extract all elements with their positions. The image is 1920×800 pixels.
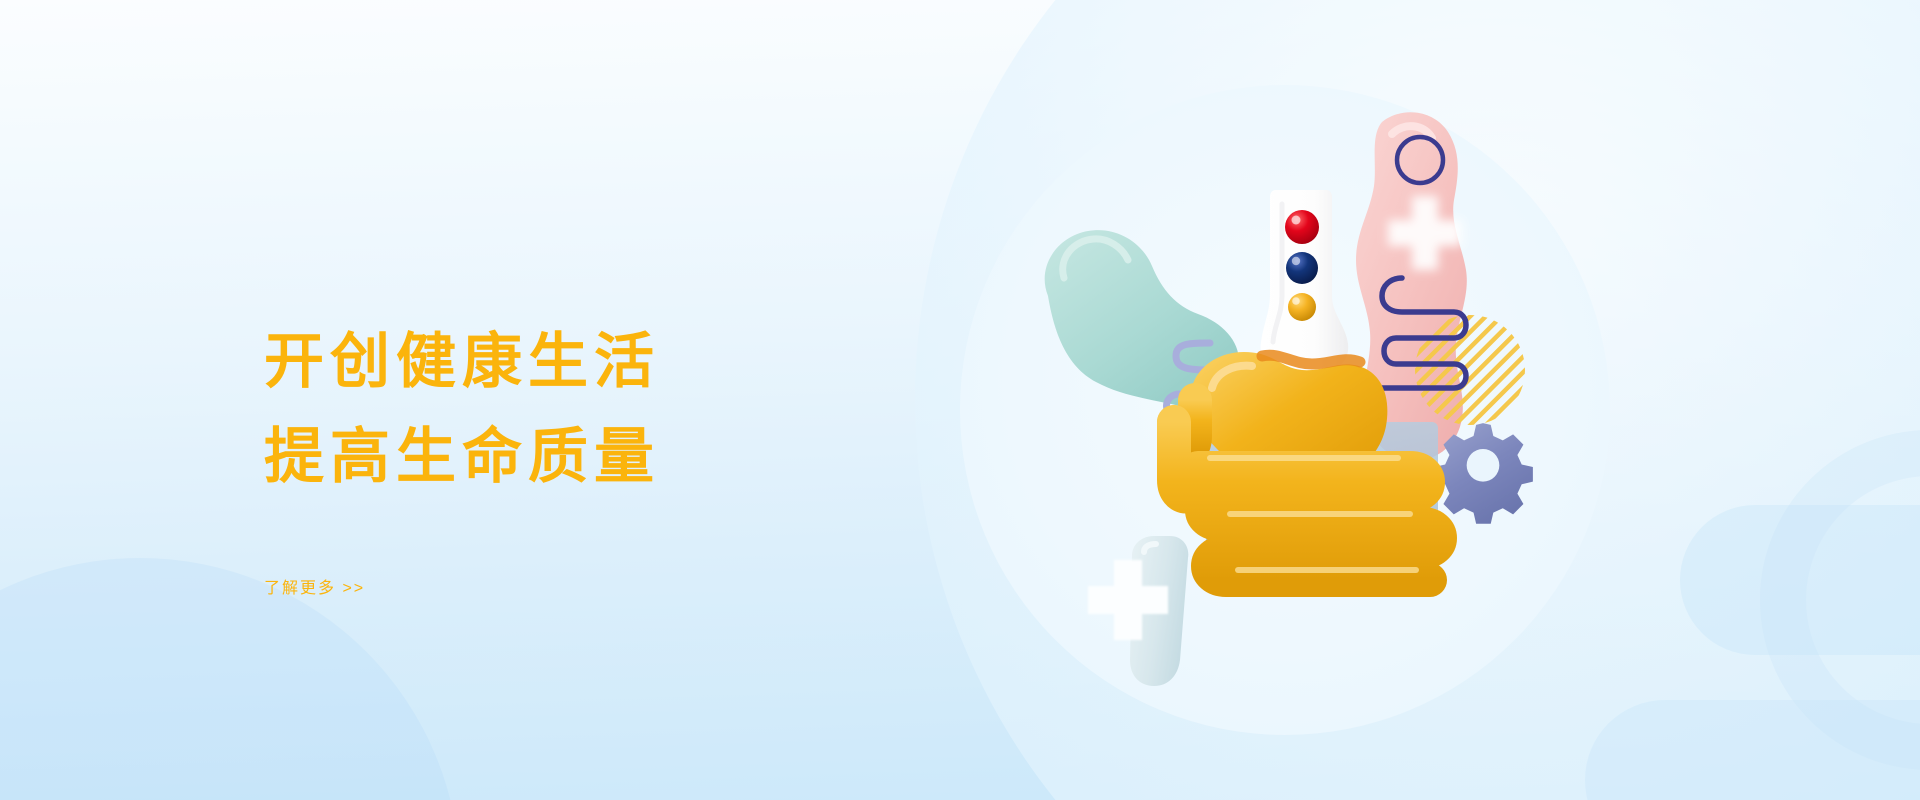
test-tube-dots [1285, 210, 1319, 321]
hero-copy: 开创健康生活 提高生命质量 了解更多 >> [264, 316, 884, 598]
headline-line-1: 开创健康生活 [264, 316, 884, 407]
learn-more-link[interactable]: 了解更多 >> [264, 574, 365, 598]
digestive-health-illustration [1030, 100, 1670, 740]
hatched-circle [1415, 315, 1525, 425]
headline-line-2: 提高生命质量 [264, 411, 884, 502]
hero-banner: 开创健康生活 提高生命质量 了解更多 >> [0, 0, 1920, 800]
